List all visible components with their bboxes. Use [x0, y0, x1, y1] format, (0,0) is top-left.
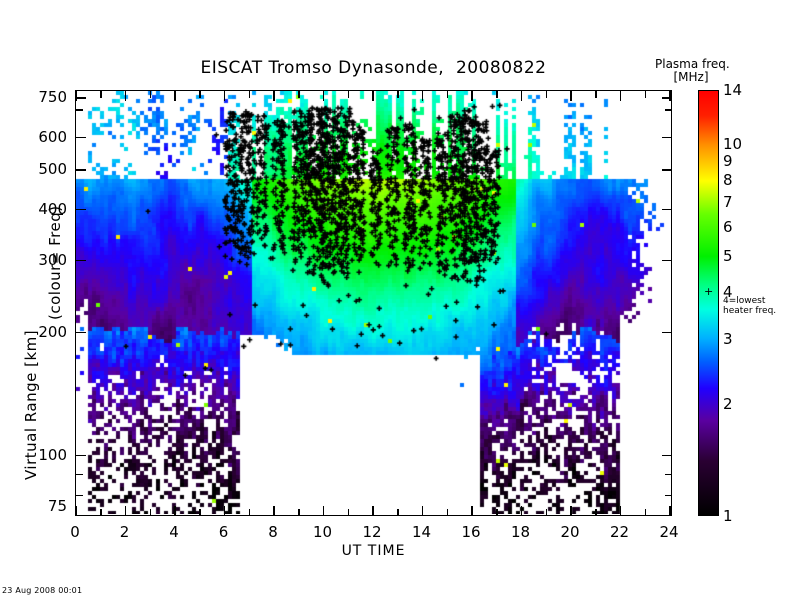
- x-tick: [595, 509, 597, 516]
- dynasonde-plot-page: EISCAT Tromso Dynasonde, 20080822 024681…: [0, 0, 800, 600]
- y-tick: [662, 455, 672, 457]
- x-tick-label: 16: [451, 523, 491, 541]
- y-tick: [76, 97, 86, 99]
- colorbar-tick-label: 14: [723, 81, 742, 99]
- y-axis-title-range: Virtual Range [km]: [22, 330, 40, 480]
- x-tick: [620, 506, 622, 516]
- x-tick: [669, 91, 671, 101]
- x-tick: [199, 509, 201, 516]
- y-axis-title-colour: (colour= Freq): [46, 205, 64, 320]
- x-tick: [224, 91, 226, 101]
- x-tick: [298, 509, 300, 516]
- x-tick: [174, 506, 176, 516]
- y-tick: [76, 455, 86, 457]
- x-tick: [422, 91, 424, 101]
- x-tick: [75, 506, 77, 516]
- x-tick-label: 10: [303, 523, 343, 541]
- colorbar-note: 4=lowest heater freq.: [723, 296, 776, 316]
- ionogram-scatter-canvas: [76, 91, 670, 514]
- x-tick: [496, 91, 498, 98]
- x-tick: [620, 91, 622, 101]
- x-tick: [174, 91, 176, 101]
- x-tick-label: 6: [204, 523, 244, 541]
- x-tick: [669, 506, 671, 516]
- x-tick: [100, 509, 102, 516]
- x-tick: [150, 91, 152, 98]
- x-tick: [323, 506, 325, 516]
- y-tick: [76, 209, 86, 211]
- x-tick: [273, 91, 275, 101]
- x-axis-title: UT TIME: [75, 543, 672, 559]
- y-tick: [662, 260, 672, 262]
- y-tick: [662, 97, 672, 99]
- x-tick: [125, 91, 127, 101]
- x-tick: [645, 91, 647, 98]
- y-tick: [76, 332, 86, 334]
- x-tick-label: 8: [253, 523, 293, 541]
- x-tick: [273, 506, 275, 516]
- timestamp-footer: 23 Aug 2008 00:01: [2, 586, 82, 595]
- x-tick: [125, 506, 127, 516]
- y-tick: [76, 474, 83, 476]
- heater-marker-icon: +: [704, 287, 713, 296]
- x-tick: [348, 509, 350, 516]
- x-tick: [546, 91, 548, 98]
- y-tick: [76, 137, 86, 139]
- colorbar-tick-label: 1: [723, 507, 733, 525]
- x-tick-label: 14: [402, 523, 442, 541]
- x-tick: [471, 506, 473, 516]
- y-tick: [76, 169, 86, 171]
- y-tick: [76, 495, 83, 497]
- x-tick: [249, 509, 251, 516]
- x-tick: [645, 509, 647, 516]
- x-tick: [397, 91, 399, 98]
- colorbar-title-line2: [MHz]: [655, 71, 727, 84]
- x-tick: [521, 91, 523, 101]
- y-tick-label: 75: [21, 497, 67, 515]
- colorbar-tick-label: 7: [723, 193, 733, 211]
- x-tick: [100, 91, 102, 98]
- x-tick: [471, 91, 473, 101]
- plot-area: [75, 90, 672, 516]
- colorbar-gradient: [699, 91, 718, 515]
- y-tick: [665, 495, 672, 497]
- x-tick: [447, 91, 449, 98]
- colorbar-tick-label: 8: [723, 171, 733, 189]
- x-tick: [595, 91, 597, 98]
- x-tick: [298, 91, 300, 98]
- colorbar-title-line1: Plasma freq.: [655, 57, 730, 71]
- y-tick: [662, 169, 672, 171]
- x-tick: [570, 506, 572, 516]
- y-tick: [76, 260, 86, 262]
- y-tick: [76, 109, 83, 111]
- x-tick: [546, 509, 548, 516]
- x-tick-label: 22: [600, 523, 640, 541]
- colorbar-tick-label: 3: [723, 330, 733, 348]
- x-tick-label: 24: [649, 523, 689, 541]
- x-tick: [249, 91, 251, 98]
- y-tick: [662, 209, 672, 211]
- x-tick-label: 18: [501, 523, 541, 541]
- x-tick-label: 12: [352, 523, 392, 541]
- x-tick-label: 0: [55, 523, 95, 541]
- x-tick: [397, 509, 399, 516]
- page-title: EISCAT Tromso Dynasonde, 20080822: [75, 58, 672, 78]
- x-tick: [422, 506, 424, 516]
- x-tick: [75, 91, 77, 101]
- colorbar-tick-label: 10: [723, 135, 742, 153]
- x-tick-label: 4: [154, 523, 194, 541]
- y-tick: [665, 109, 672, 111]
- x-tick-label: 20: [550, 523, 590, 541]
- y-tick: [662, 332, 672, 334]
- x-tick: [496, 509, 498, 516]
- colorbar: [698, 90, 719, 516]
- y-tick-label: 600: [21, 128, 67, 146]
- colorbar-tick-label: 9: [723, 152, 733, 170]
- x-tick-label: 2: [105, 523, 145, 541]
- x-tick: [447, 509, 449, 516]
- y-tick-label: 500: [21, 160, 67, 178]
- y-tick: [662, 137, 672, 139]
- colorbar-tick-label: 6: [723, 218, 733, 236]
- x-tick: [199, 91, 201, 98]
- x-tick: [570, 91, 572, 101]
- colorbar-tick-label: 2: [723, 395, 733, 413]
- x-tick: [372, 506, 374, 516]
- y-tick: [665, 474, 672, 476]
- x-tick: [224, 506, 226, 516]
- x-tick: [323, 91, 325, 101]
- x-tick: [372, 91, 374, 101]
- x-tick: [348, 91, 350, 98]
- colorbar-tick-label: 5: [723, 247, 733, 265]
- y-tick-label: 750: [21, 88, 67, 106]
- x-tick: [521, 506, 523, 516]
- x-tick: [150, 509, 152, 516]
